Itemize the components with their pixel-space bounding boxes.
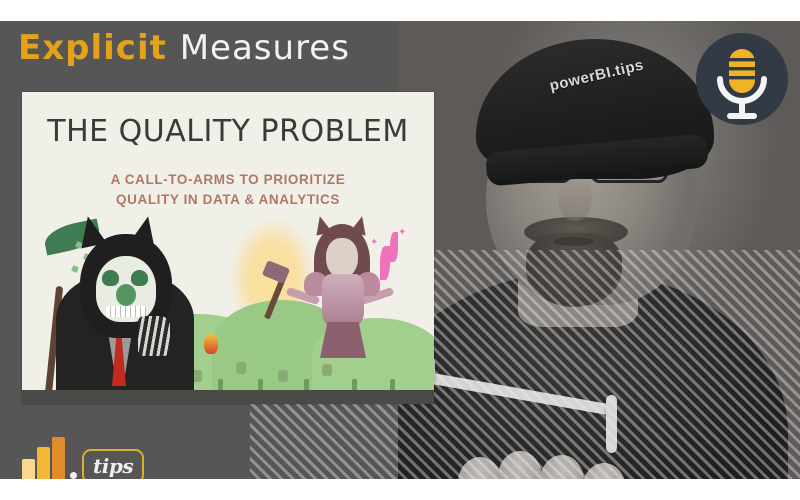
critter-2 (236, 362, 246, 374)
illustration-ground (22, 390, 434, 404)
logo-dot (70, 472, 77, 479)
show-title-word-measures: Measures (180, 28, 350, 68)
slide-illustration: ✦ ✦ ✦ (22, 212, 434, 404)
slide-title: THE QUALITY PROBLEM (22, 114, 434, 149)
magic-spark-3: ✦ (374, 280, 382, 290)
top-white-strip (0, 0, 800, 21)
presenter-hand (458, 451, 638, 479)
slide-subtitle: A CALL-TO-ARMS TO PRIORITIZE QUALITY IN … (22, 170, 434, 210)
logo-bar-1 (22, 459, 35, 479)
magic-spark-2: ✦ (398, 228, 406, 238)
magic-spark-1: ✦ (370, 238, 378, 248)
show-title-word-explicit: Explicit (18, 28, 167, 68)
critter-4 (322, 364, 332, 376)
reaper-skeleton-hand (138, 316, 170, 356)
slide-subtitle-line-2: QUALITY IN DATA & ANALYTICS (22, 190, 434, 210)
show-title: Explicit Measures (18, 28, 350, 68)
critter-3 (278, 370, 288, 382)
skull-snout (116, 284, 136, 306)
knight-face (326, 238, 358, 278)
youtube-thumbnail: powerBI.tips Explicit Measures (0, 0, 800, 500)
campfire-icon (204, 334, 218, 354)
finger-4 (582, 463, 626, 479)
presenter-mouth (554, 237, 594, 246)
podcast-badge (696, 33, 788, 125)
bottom-white-strip (0, 479, 800, 500)
knight-armor-body (322, 274, 364, 328)
skull-teeth (106, 306, 146, 317)
logo-bar-2 (37, 447, 50, 479)
logo-bar-3 (52, 437, 65, 479)
finger-2 (498, 451, 542, 479)
grim-reaper-cat-character (50, 220, 200, 404)
boom-segment-vertical (606, 395, 617, 453)
magic-wisp-1 (380, 246, 390, 280)
magic-wisp-2 (390, 232, 398, 262)
microphone-icon (696, 33, 788, 125)
skull-eye-left (102, 270, 119, 286)
logo-tips-word: tips (82, 449, 144, 479)
knight-armor-skirt (320, 322, 366, 358)
falling-coin-3 (71, 265, 79, 273)
skull-eye-right (131, 270, 148, 286)
slide-subtitle-line-1: A CALL-TO-ARMS TO PRIORITIZE (22, 170, 434, 190)
presenter-nose (558, 179, 592, 221)
thumbnail-canvas: powerBI.tips Explicit Measures (0, 21, 800, 479)
finger-3 (540, 455, 584, 479)
cat-skull-face (96, 256, 156, 322)
magic-effect: ✦ ✦ ✦ (370, 228, 410, 300)
powerbi-tips-logo: tips (20, 439, 138, 479)
finger-1 (458, 457, 502, 479)
cat-knight-character: ✦ ✦ ✦ (294, 218, 390, 362)
presentation-slide: THE QUALITY PROBLEM A CALL-TO-ARMS TO PR… (22, 92, 434, 404)
